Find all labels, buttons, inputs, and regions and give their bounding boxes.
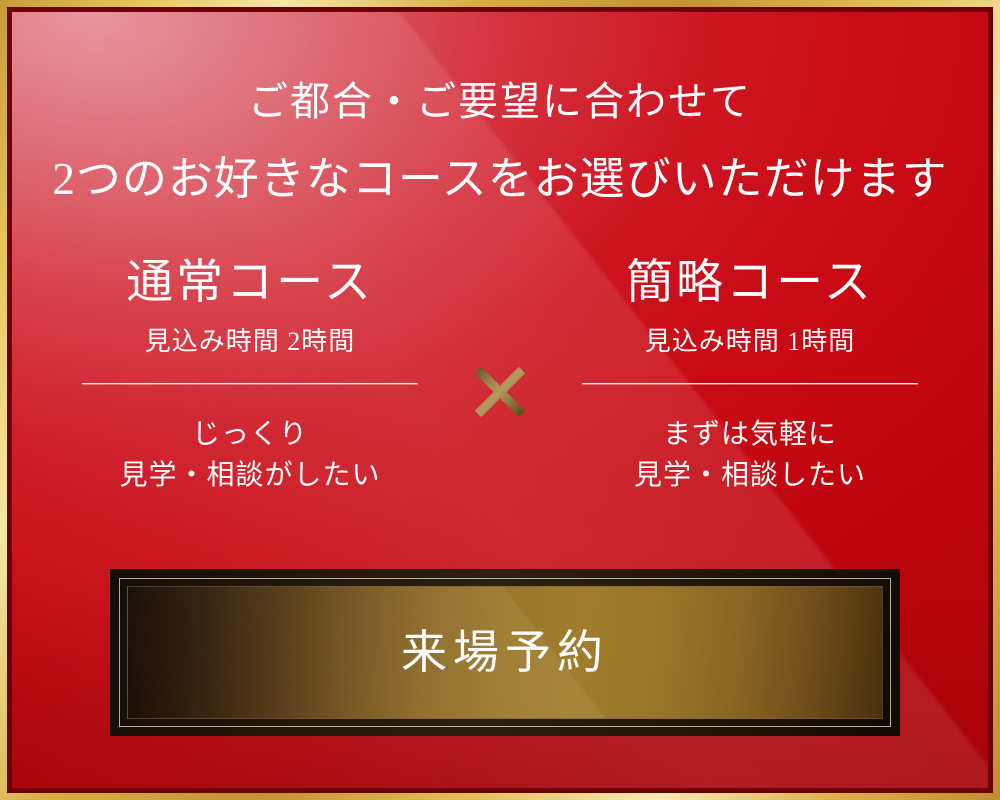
course-desc-standard-line-2: 見学・相談がしたい [50,455,450,496]
headline-line-1: ご都合・ご要望に合わせて [12,82,988,122]
course-description-simple: まずは気軽に 見学・相談したい [550,414,950,497]
course-duration-standard: 見込み時間 2時間 [50,329,450,355]
cross-icon [472,364,528,420]
reservation-button-face: 来場予約 [127,586,883,719]
promo-banner: ご都合・ご要望に合わせて 2つのお好きなコースをお選びいただけます 通常コース … [0,0,1000,800]
headline-line-2: 2つのお好きなコースをお選びいただけます [12,157,988,202]
course-comparison: 通常コース 見込み時間 2時間 じっくり 見学・相談がしたい [12,260,988,497]
course-divider-standard [82,383,418,384]
course-duration-simple: 見込み時間 1時間 [550,329,950,355]
course-desc-simple-line-1: まずは気軽に [550,414,950,455]
headline: ご都合・ご要望に合わせて 2つのお好きなコースをお選びいただけます [12,82,988,202]
course-title-simple: 簡略コース [550,260,950,307]
course-card-simple: 簡略コース 見込み時間 1時間 まずは気軽に 見学・相談したい [550,260,950,497]
course-divider-simple [582,383,918,384]
course-desc-simple-line-2: 見学・相談したい [550,455,950,496]
reservation-button-outer-rule: 来場予約 [119,578,891,727]
course-description-standard: じっくり 見学・相談がしたい [50,414,450,497]
reservation-button-label: 来場予約 [401,630,609,676]
banner-content: ご都合・ご要望に合わせて 2つのお好きなコースをお選びいただけます 通常コース … [12,12,988,788]
banner-stage: ご都合・ご要望に合わせて 2つのお好きなコースをお選びいただけます 通常コース … [12,12,988,788]
course-title-standard: 通常コース [50,260,450,307]
cross-divider [450,260,550,420]
reservation-button[interactable]: 来場予約 [110,569,900,736]
course-card-standard: 通常コース 見込み時間 2時間 じっくり 見学・相談がしたい [50,260,450,497]
banner-inner-frame: ご都合・ご要望に合わせて 2つのお好きなコースをお選びいただけます 通常コース … [7,7,993,793]
course-desc-standard-line-1: じっくり [50,414,450,455]
